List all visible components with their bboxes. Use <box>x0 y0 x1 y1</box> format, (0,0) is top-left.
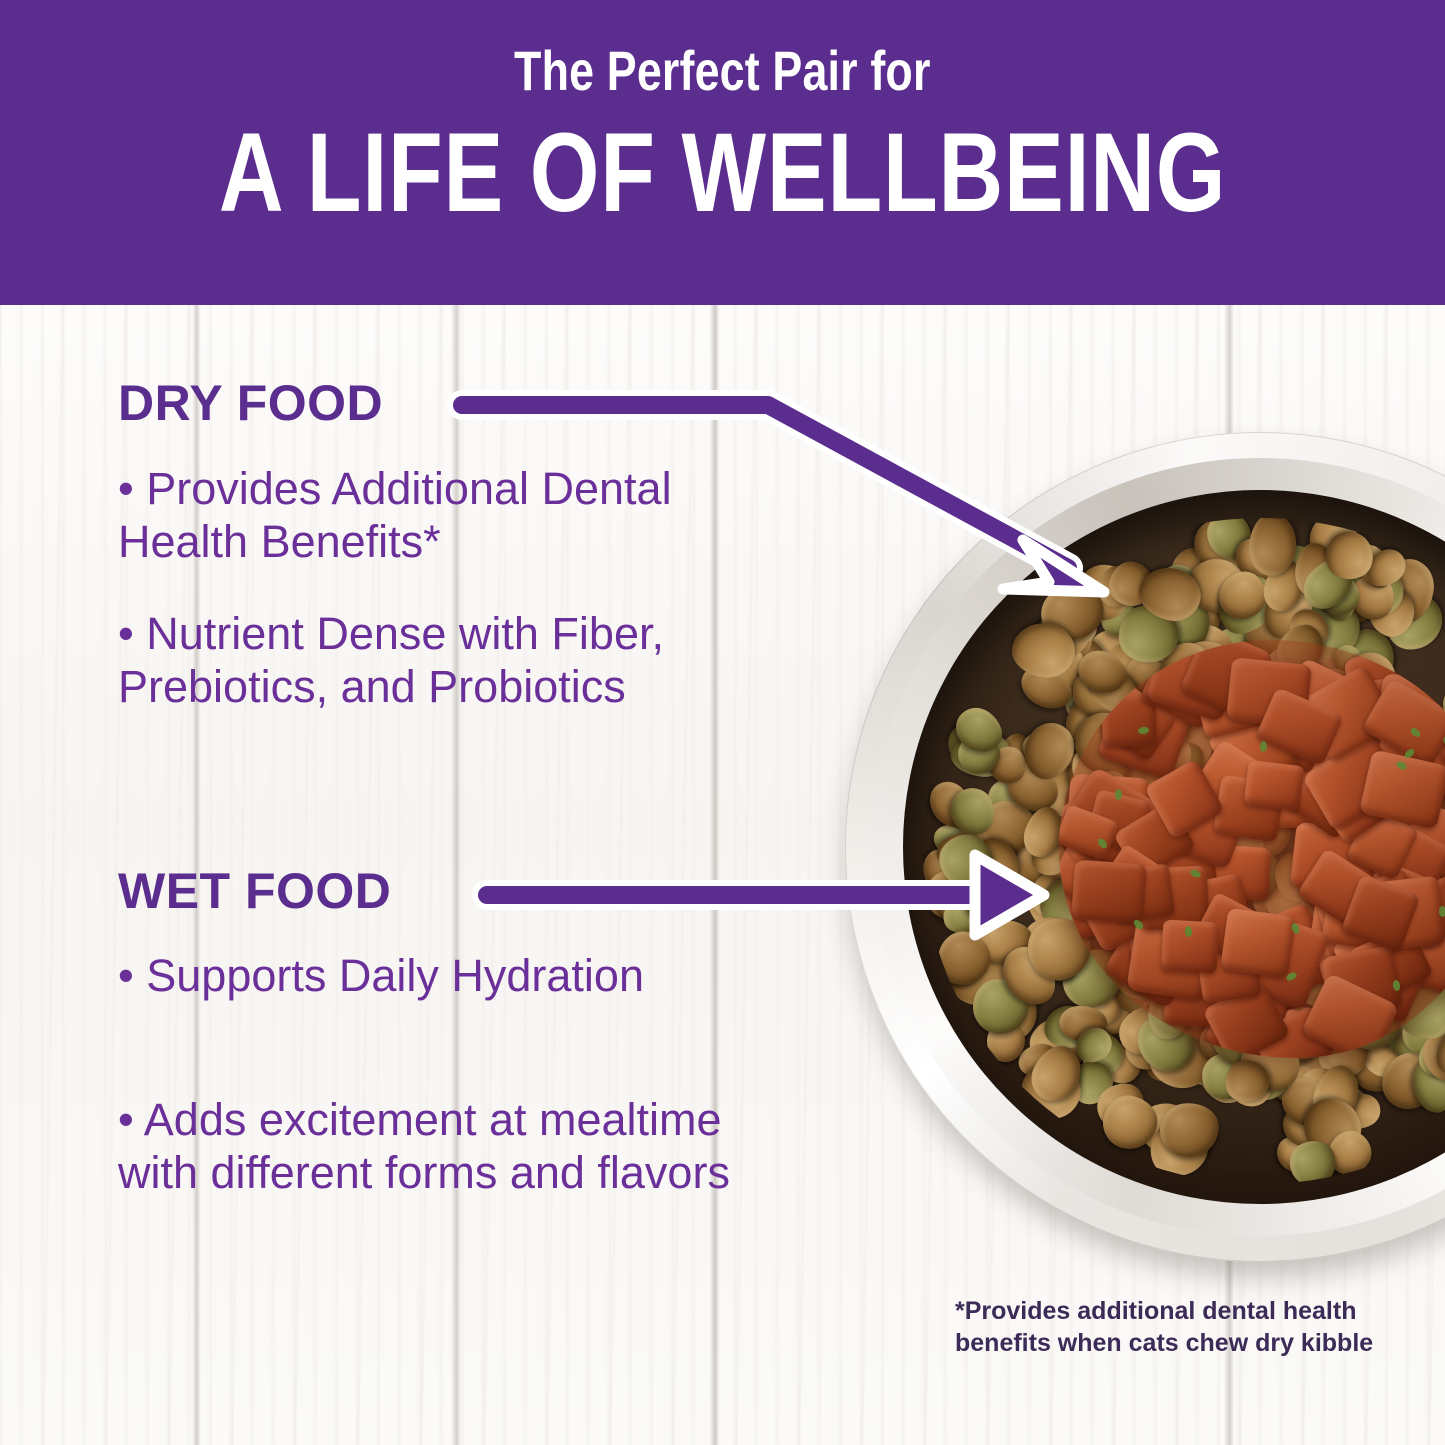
wet-food-bullet-1: • Supports Daily Hydration <box>118 950 778 1003</box>
dry-food-heading: DRY FOOD <box>118 378 383 428</box>
wet-food-bullet-2: • Adds excitement at mealtime with diffe… <box>118 1094 778 1199</box>
dry-food-bullet-2: • Nutrient Dense with Fiber, Prebiotics,… <box>118 608 778 713</box>
product-infographic: The Perfect Pair for A LIFE OF WELLBEING… <box>0 0 1445 1445</box>
header-headline: A LIFE OF WELLBEING <box>219 117 1226 229</box>
wet-food-heading: WET FOOD <box>118 866 391 916</box>
dry-food-bullet-1: • Provides Additional Dental Health Bene… <box>118 463 778 568</box>
header-eyebrow: The Perfect Pair for <box>514 42 930 101</box>
header-band: The Perfect Pair for A LIFE OF WELLBEING <box>0 0 1445 305</box>
dental-health-footnote: *Provides additional dental health benef… <box>955 1296 1385 1359</box>
